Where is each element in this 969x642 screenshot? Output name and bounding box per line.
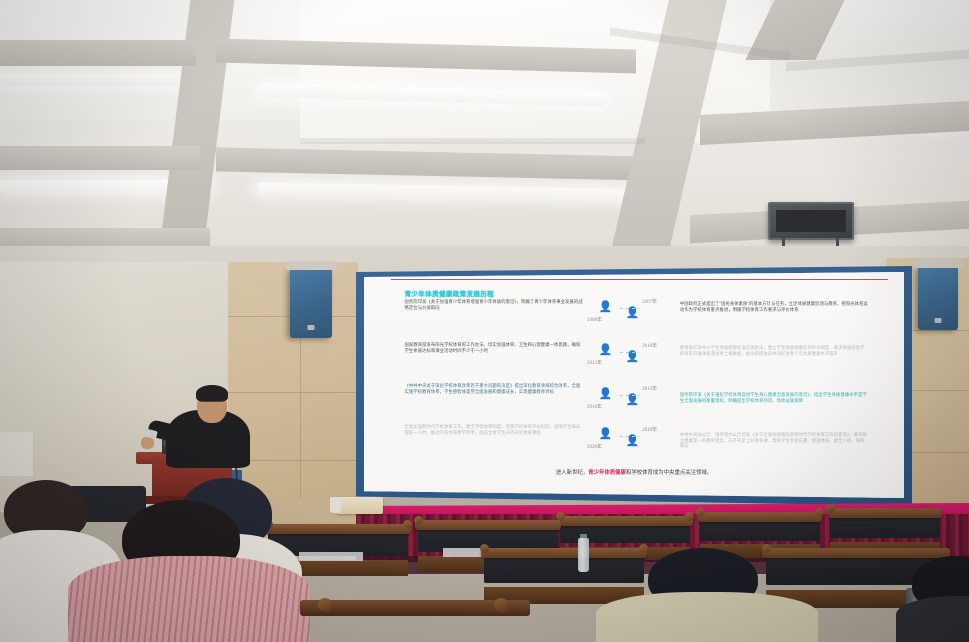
slide-divider: [391, 279, 888, 280]
bench-knob: [815, 508, 824, 517]
shirt-stripes: [68, 556, 310, 642]
ceiling-light-cove: [258, 183, 658, 201]
bench-paper: [299, 552, 363, 561]
timeline-connector: [620, 395, 639, 396]
bench-rail: [698, 512, 823, 522]
slide-content: 青少年体质健康政策发展历程 国务院印发《关于加强青少年体育增强青少年体质的意见》…: [364, 272, 904, 498]
bench-knob: [826, 504, 835, 513]
attendee-far-right: [912, 556, 969, 642]
tissue-box: [337, 497, 383, 514]
projector-mount: [768, 202, 854, 240]
timeline-year: 2012年: [587, 359, 602, 366]
slide-text-block: 国家教育部发布阳光学校体育的工作办法，切实加强体育、卫生和心理健康一体思路，确保…: [405, 342, 583, 353]
timeline-connector: [620, 436, 639, 437]
footer-suffix: 和学校体育成为中央重点关注领域。: [626, 470, 712, 476]
slide-title: 青少年体质健康政策发展历程: [405, 288, 495, 298]
person-icon: 👤: [599, 345, 613, 356]
timeline-connector: [620, 308, 639, 309]
speaker-bracket: [914, 259, 963, 268]
person-icon: 👤: [599, 389, 613, 400]
slide-text-block: 国务院印发《关于强化学校体育促进学生身心健康全面发展的意见》，指出学生体质健康水…: [680, 392, 869, 403]
footer-highlight: 青少年体质健康: [588, 470, 626, 476]
paper-cup: [330, 497, 341, 513]
slide-text-block: 中共中央办公厅、国务院办公厅印发《关于全面加强和改进新时代学校体育工作的意见》，…: [680, 432, 869, 449]
ceiling-shadow: [300, 138, 645, 144]
person-icon: 👤: [626, 395, 640, 406]
ceiling: [0, 0, 969, 272]
speaker-badge: [308, 325, 315, 330]
bottle-cap: [580, 534, 586, 538]
bench-knob: [696, 508, 705, 517]
ceiling-light-cove: [0, 74, 196, 86]
ceiling-beam: [0, 40, 196, 66]
bench-knob: [414, 516, 423, 525]
panel-seam: [228, 392, 358, 393]
bench-knob: [403, 520, 412, 529]
slide-text-block: 教育部印发中小学生体质健康标准实施办法，建立学生体质健康监测评价制度，要求各级各…: [680, 345, 869, 356]
water-bottle: [578, 538, 589, 572]
attendee-pink-striped: [74, 500, 304, 642]
person-icon: 👤: [626, 436, 640, 447]
slide-text-block: 《中共中央关于深化学校体育改革若干重大问题的决定》提出深化教育领域综合改革，全面…: [405, 383, 583, 394]
bench-rail: [828, 508, 942, 518]
person-icon: 👤: [626, 308, 640, 319]
lecture-hall-photo: 青少年体质健康政策发展历程 国务院印发《关于加强青少年体育增强青少年体质的意见》…: [0, 0, 969, 642]
timeline-connector: [620, 352, 639, 353]
speaker-bracket: [286, 261, 337, 270]
bench-knob: [494, 598, 508, 612]
timeline-year: 2010年: [642, 342, 657, 349]
bench-knob: [685, 512, 694, 521]
timeline-year: 2008年: [587, 316, 602, 323]
wall-fixture: [0, 432, 34, 476]
eyeglasses: [200, 401, 223, 402]
person-icon: 👤: [599, 302, 613, 313]
bench-knob: [480, 544, 489, 553]
wall-speaker-right: [918, 266, 958, 330]
person-icon: 👤: [599, 429, 613, 440]
attendee-body: [68, 556, 310, 642]
attendee-body: [896, 596, 969, 642]
slide-text-block: 中国政府正式提出了"国民身体素质"的基本方针与任务，立足体质健康监测与教育，把阳…: [680, 301, 869, 312]
attendee-khaki-shirt-right: [590, 548, 820, 642]
footer-prefix: 进入新世纪，: [556, 470, 588, 476]
presenter-hair: [196, 385, 228, 402]
timeline-year: 2019年: [642, 426, 657, 433]
ceiling-beam: [0, 146, 200, 170]
timeline-year: 2020年: [587, 443, 602, 450]
attendee-body: [596, 592, 818, 642]
presenter-hand: [141, 437, 154, 449]
ceiling-downlight: [486, 96, 499, 102]
ceiling-beam: [216, 147, 656, 180]
speaker-badge: [935, 318, 942, 323]
bench-rail: [557, 516, 692, 526]
slide-footer: 进入新世纪，青少年体质健康和学校体育成为中央重点关注领域。: [364, 468, 904, 476]
projection-screen: 青少年体质健康政策发展历程 国务院印发《关于加强青少年体育增强青少年体质的意见》…: [364, 272, 904, 498]
timeline-year: 2007年: [642, 298, 657, 305]
timeline-year: 2016年: [587, 403, 602, 410]
timeline-year: 2013年: [642, 385, 657, 392]
slide-text-block: 国务院印发《关于加强青少年体育增强青少年体质的意见》，明确了青少年体育事业发展的…: [405, 299, 583, 310]
slide-text-block: 全面加强新时代学校体育工作，健全学校体育制度，完善学校体育评价机制，保障学生每天…: [405, 424, 583, 435]
bench-rail: [415, 520, 561, 530]
wall-speaker-left: [290, 268, 332, 338]
bench-knob: [318, 598, 332, 612]
person-icon: 👤: [626, 352, 640, 363]
